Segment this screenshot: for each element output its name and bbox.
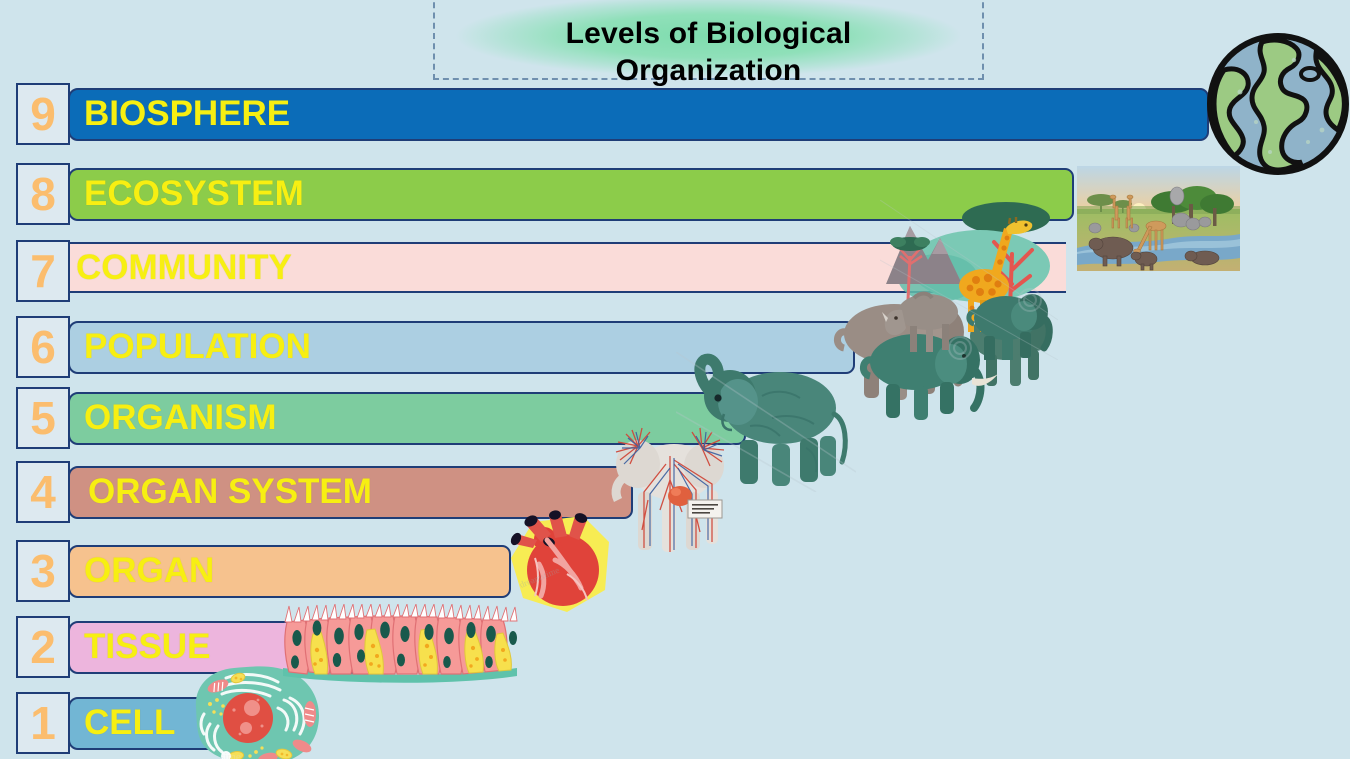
page-title: Levels of Biological Organization [433, 16, 984, 89]
level-number-box-3[interactable]: 3 [16, 540, 70, 602]
savanna-ecosystem-photo [1077, 166, 1240, 271]
level-number-9: 9 [18, 85, 68, 143]
level-label-organism: ORGANISM [84, 392, 277, 445]
level-number-box-9[interactable]: 9 [16, 83, 70, 145]
level-number-7: 7 [18, 242, 68, 300]
level-number-6: 6 [18, 318, 68, 376]
level-number-2: 2 [18, 618, 68, 676]
page-title-line-2: Organization [433, 53, 984, 90]
slide-canvas: Levels of Biological Organization 9 BIOS… [0, 0, 1350, 759]
level-number-box-1[interactable]: 1 [16, 692, 70, 754]
level-label-cell: CELL [84, 697, 175, 750]
level-label-ecosystem: ECOSYSTEM [84, 168, 304, 221]
level-number-box-5[interactable]: 5 [16, 387, 70, 449]
level-number-box-7[interactable]: 7 [16, 240, 70, 302]
level-label-biosphere: BIOSPHERE [84, 88, 290, 141]
level-label-organ-system: ORGAN SYSTEM [88, 466, 372, 519]
level-number-box-8[interactable]: 8 [16, 163, 70, 225]
level-number-3: 3 [18, 542, 68, 600]
level-number-8: 8 [18, 165, 68, 223]
earth-globe-icon [1204, 30, 1350, 178]
level-number-4: 4 [18, 463, 68, 521]
svg-text:sime: sime [220, 751, 241, 759]
level-number-box-6[interactable]: 6 [16, 316, 70, 378]
level-label-population: POPULATION [84, 321, 311, 374]
level-label-organ: ORGAN [84, 545, 214, 598]
level-label-community: COMMUNITY [76, 242, 292, 295]
epithelial-tissue-illustration [281, 604, 521, 686]
level-number-1: 1 [18, 694, 68, 752]
community-animals-illustration [880, 200, 1058, 360]
level-number-box-2[interactable]: 2 [16, 616, 70, 678]
heart-illustration: dreamstime [505, 508, 615, 616]
level-number-box-4[interactable]: 4 [16, 461, 70, 523]
page-title-line-1: Levels of Biological [433, 16, 984, 53]
level-label-tissue: TISSUE [84, 621, 210, 674]
level-number-5: 5 [18, 389, 68, 447]
